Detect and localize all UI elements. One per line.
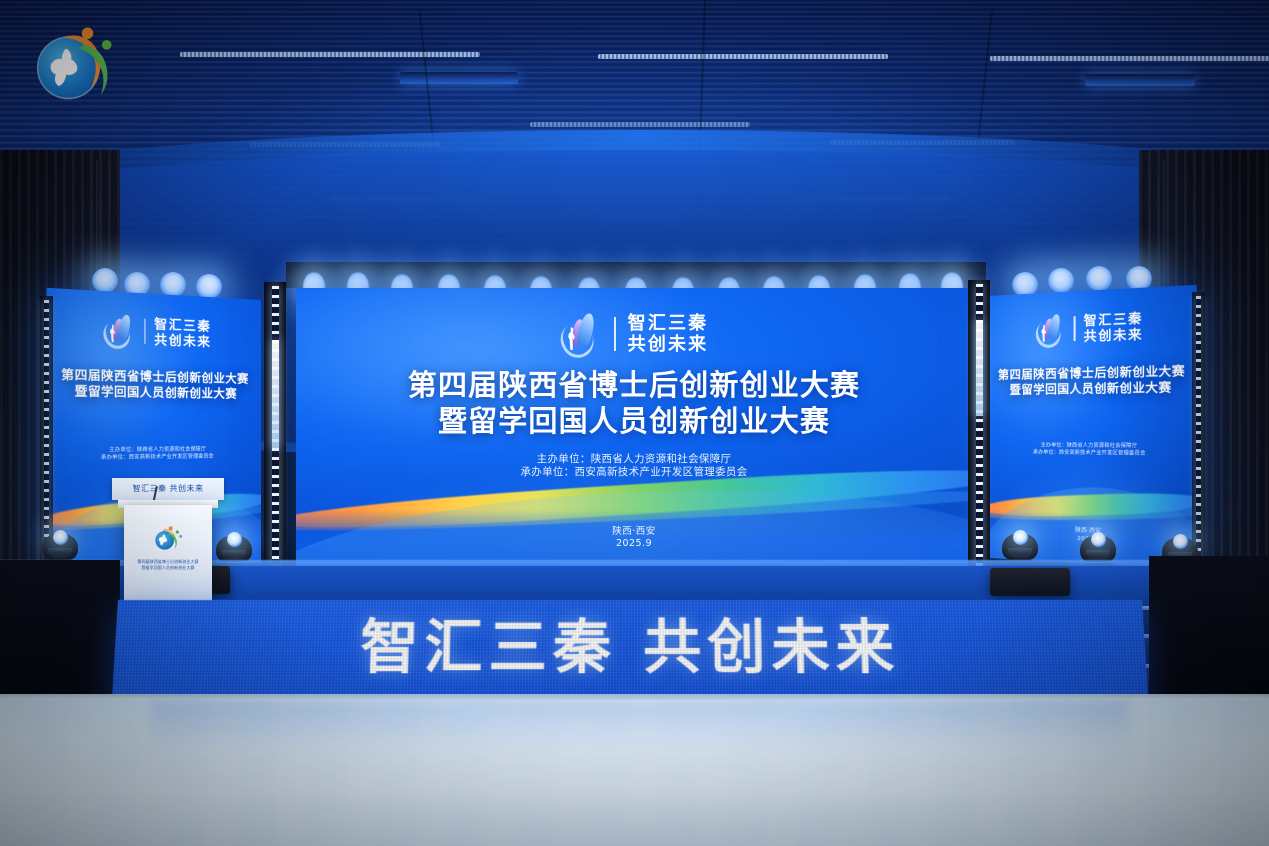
floor-reflection [150, 700, 1130, 752]
lockup-words: 智汇三秦 共创未来 [628, 313, 709, 355]
led-pillar-right [968, 280, 990, 570]
left-stage-shadow [0, 560, 120, 710]
main-organizer-line: 主办单位：陕西省人力资源和社会保障厅 [296, 452, 972, 466]
left-panel-lockup: 智汇三秦 共创未来 [47, 310, 261, 352]
brand-mark-icon [560, 312, 602, 356]
right-led-panel: 智汇三秦 共创未来 第四届陕西省博士后创新创业大赛 暨留学回国人员创新创业大赛 … [988, 285, 1197, 569]
podium-logo-icon [151, 523, 185, 553]
led-pillar-far-right [1192, 292, 1205, 568]
right-stage-shadow [1149, 556, 1269, 706]
podium-text-line2: 暨留学回国人员创新创业大赛 [132, 565, 204, 571]
event-logo-icon [28, 16, 124, 112]
lockup-line-2: 共创未来 [1084, 326, 1144, 344]
podium: 第四届陕西省博士后创新创业大赛 暨留学回国人员创新创业大赛 [124, 505, 212, 603]
front-led-banner-text: 智汇三秦 共创未来 [113, 614, 1147, 680]
left-panel-title-line2: 暨留学回国人员创新创业大赛 [47, 383, 261, 401]
led-pillar-left [264, 282, 286, 568]
main-title-line2: 暨留学回国人员创新创业大赛 [296, 404, 972, 438]
podium-plaque-text: 智汇三秦 共创未来 [112, 483, 224, 494]
main-led-screen: 智汇三秦 共创未来 第四届陕西省博士后创新创业大赛 暨留学回国人员创新创业大赛 … [296, 288, 972, 572]
front-led-banner: 智汇三秦 共创未来 [112, 600, 1148, 701]
main-place: 陕西·西安 [296, 526, 972, 538]
podium-text-line1: 第四届陕西省博士后创新创业大赛 [132, 559, 204, 565]
podium-plaque: 智汇三秦 共创未来 [112, 478, 224, 500]
lockup-divider [614, 317, 616, 351]
lockup-divider [144, 319, 146, 344]
main-title-line1: 第四届陕西省博士后创新创业大赛 [296, 368, 972, 402]
stage-monitor-wedge [990, 568, 1070, 596]
event-logo-watermark [28, 16, 124, 112]
right-panel-title-line2: 暨留学回国人员创新创业大赛 [988, 379, 1197, 397]
lockup-words: 智汇三秦 共创未来 [154, 316, 211, 349]
lockup-divider [1074, 316, 1076, 341]
brand-mark-icon [1035, 312, 1065, 346]
lockup-line-1: 智汇三秦 [628, 313, 709, 334]
lockup-line-2: 共创未来 [154, 332, 211, 350]
brand-mark-icon [103, 312, 135, 347]
side-spotlight [1048, 268, 1074, 294]
main-screen-lockup: 智汇三秦 共创未来 [296, 312, 972, 356]
main-date: 2025.9 [296, 538, 972, 550]
stage-photograph: 智汇三秦 共创未来 第四届陕西省博士后创新创业大赛 暨留学回国人员创新创业大赛 … [0, 0, 1269, 846]
main-host-line: 承办单位：西安高新技术产业开发区管理委员会 [296, 465, 972, 479]
lockup-words: 智汇三秦 共创未来 [1084, 310, 1144, 344]
side-spotlight [1086, 266, 1112, 292]
lockup-line-2: 共创未来 [628, 334, 709, 355]
